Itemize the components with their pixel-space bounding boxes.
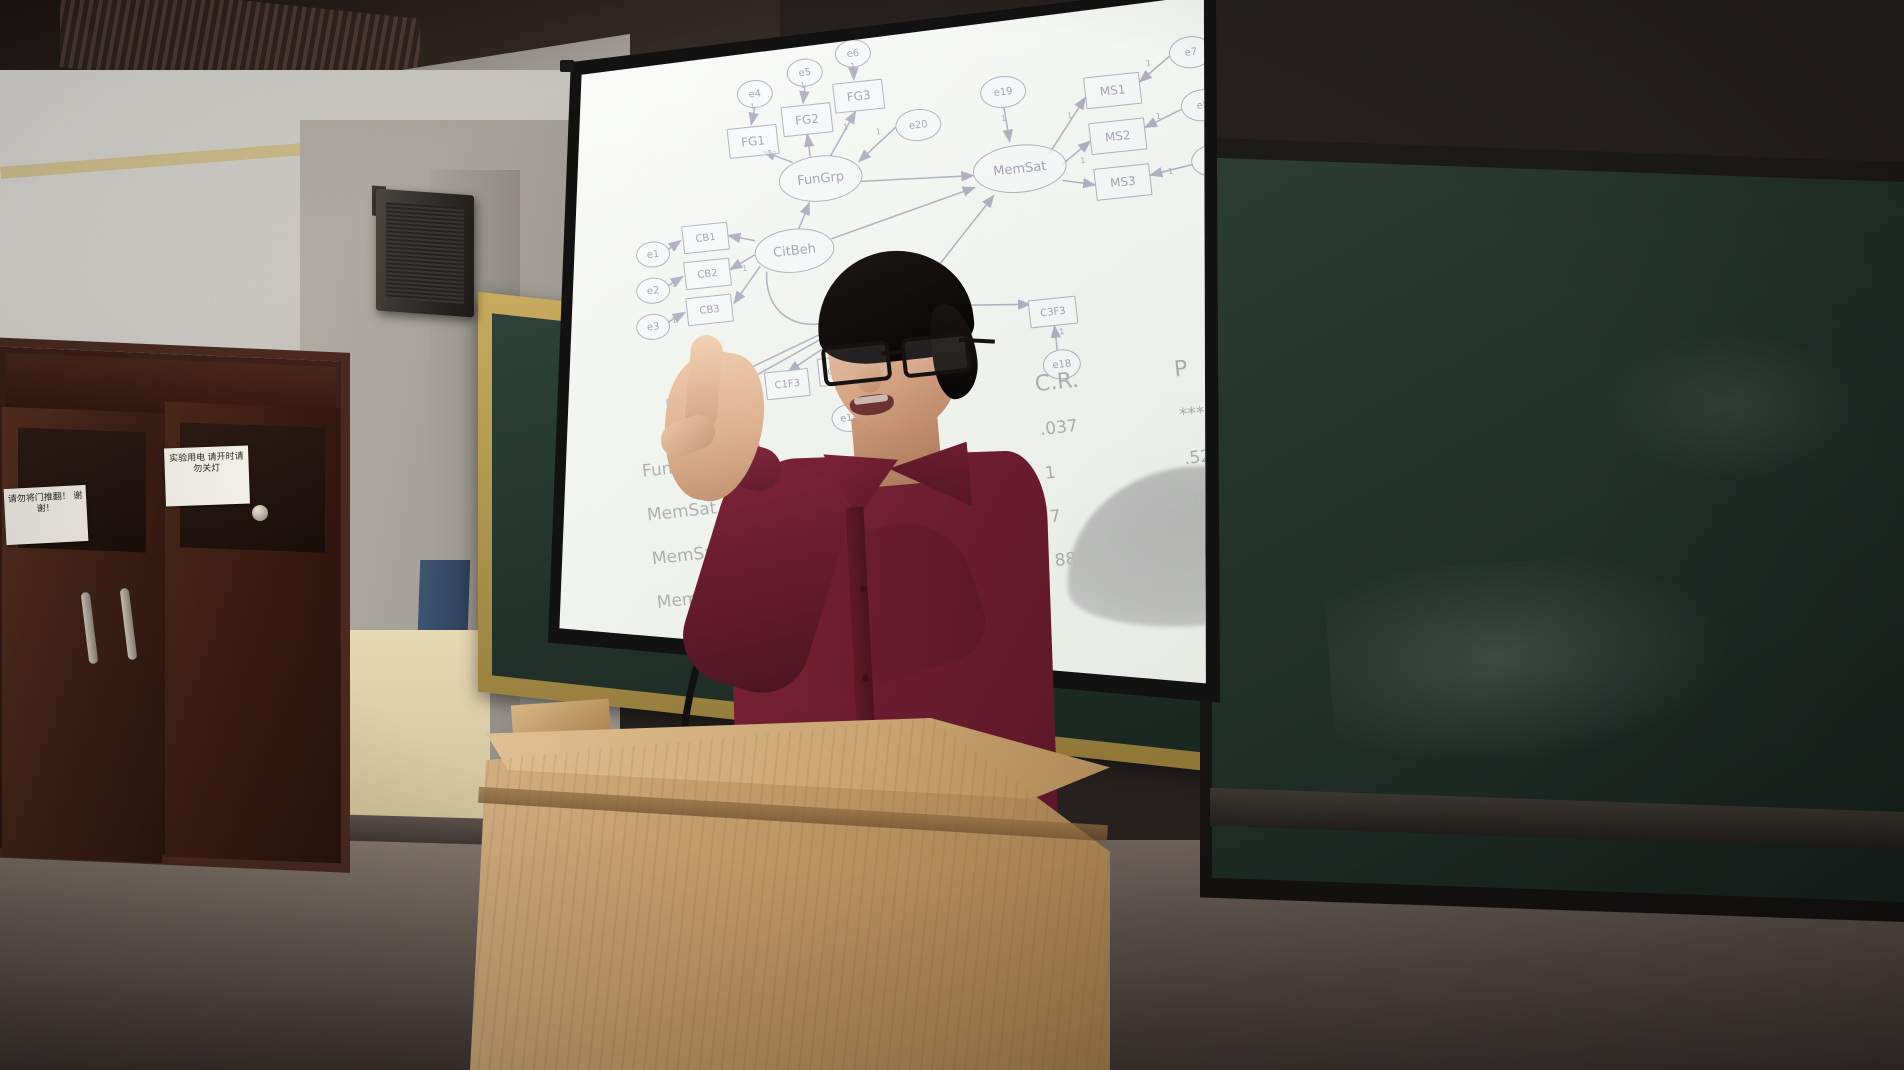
- sem-edge-coefficient: 1: [875, 127, 881, 136]
- sem-node-fg3: FG3: [832, 79, 885, 114]
- results-cell-p: ***: [1178, 403, 1206, 426]
- sem-edge-coefficient: 1: [671, 243, 677, 252]
- sem-node-ms3: MS3: [1093, 163, 1152, 201]
- results-header-p: P: [1173, 356, 1189, 382]
- sem-edge-coefficient: 1: [1155, 112, 1161, 121]
- sem-edge-coefficient: 1: [843, 122, 849, 131]
- shirt-button: [862, 675, 869, 682]
- chalk-smudge: [1323, 546, 1757, 785]
- sem-edge-coefficient: 1: [750, 102, 756, 111]
- glasses-bridge: [881, 349, 903, 355]
- sem-edge-coefficient: 1: [767, 148, 773, 157]
- screen-mount: [560, 60, 574, 72]
- door-sign-notice: 请勿将门推翻！ 谢谢！: [4, 485, 89, 545]
- lecture-hall-photo: 请勿将门推翻！ 谢谢！ 实验用电 请开时请勿关灯 Model and Resul…: [0, 0, 1904, 1070]
- projection-shadow-blob: [1056, 452, 1220, 639]
- sem-edge-coefficient: 1: [1145, 58, 1151, 67]
- sem-node-ms1: MS1: [1083, 72, 1142, 110]
- speaker-grill: [386, 202, 464, 303]
- sem-edge-coefficient: 1: [803, 133, 809, 142]
- door-sign-notice: 实验用电 请开时请勿关灯: [164, 446, 250, 507]
- door-lock-icon[interactable]: [252, 505, 268, 521]
- sem-node-cb1: CB1: [681, 222, 730, 255]
- sem-edge-coefficient: 1: [1001, 114, 1007, 123]
- sem-edge-coefficient: 1: [850, 61, 856, 70]
- shirt-button: [860, 585, 867, 592]
- sem-edge-coefficient: 1: [800, 81, 806, 90]
- chalk-smudge: [1600, 330, 1860, 480]
- sem-edge-coefficient: 1: [1067, 111, 1073, 120]
- sem-edge-coefficient: 1: [1168, 167, 1174, 176]
- sem-node-ms2: MS2: [1088, 117, 1147, 155]
- sem-edge-coefficient: 1: [1080, 156, 1086, 165]
- lens-left: [821, 340, 893, 387]
